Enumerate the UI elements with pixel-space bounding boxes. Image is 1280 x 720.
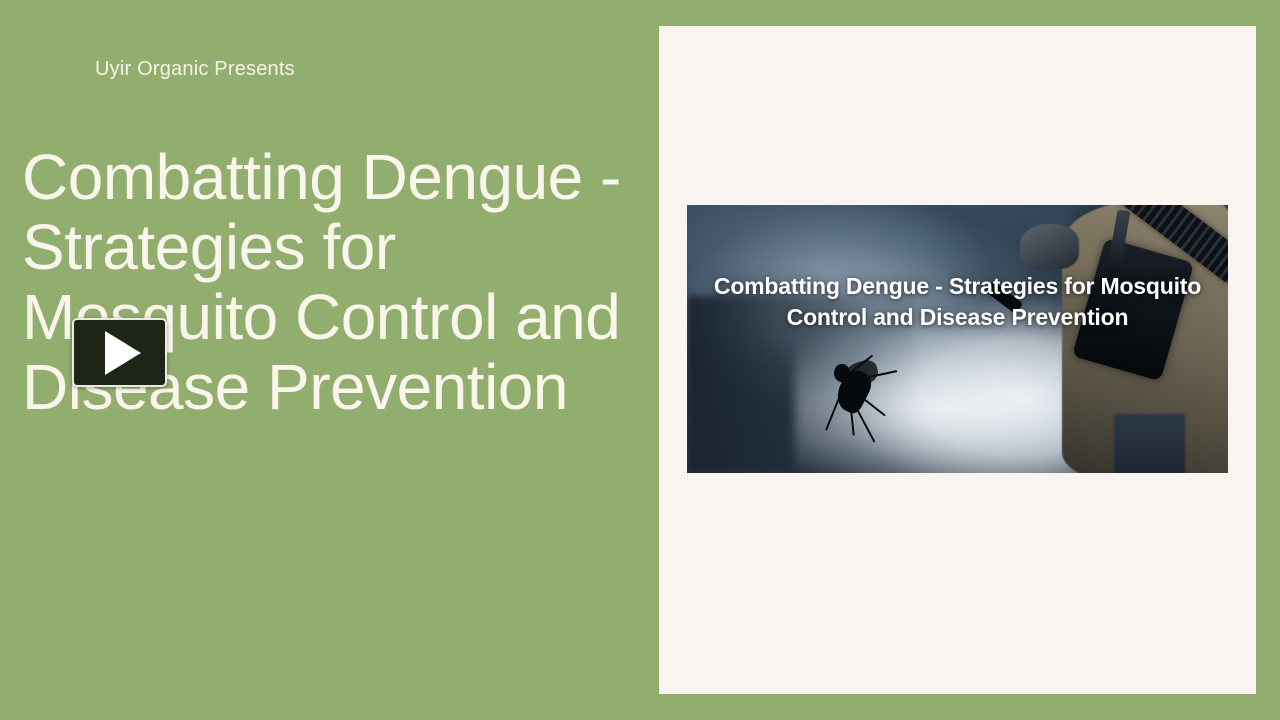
- thumbnail-caption-text: Combatting Dengue - Strategies for Mosqu…: [687, 271, 1228, 333]
- video-thumbnail[interactable]: Combatting Dengue - Strategies for Mosqu…: [687, 205, 1228, 473]
- operator-leg: [1114, 414, 1184, 473]
- mosquito-silhouette-icon: [817, 360, 904, 451]
- operator-glove: [1020, 224, 1080, 270]
- presenter-eyebrow-text: Uyir Organic Presents: [95, 58, 295, 81]
- play-video-button[interactable]: [72, 318, 167, 387]
- media-card-panel: Combatting Dengue - Strategies for Mosqu…: [659, 26, 1256, 694]
- thumbnail-scene-artwork: [687, 205, 1228, 473]
- play-triangle-icon: [105, 331, 141, 375]
- slide-title-panel: Uyir Organic Presents Combatting Dengue …: [0, 0, 659, 720]
